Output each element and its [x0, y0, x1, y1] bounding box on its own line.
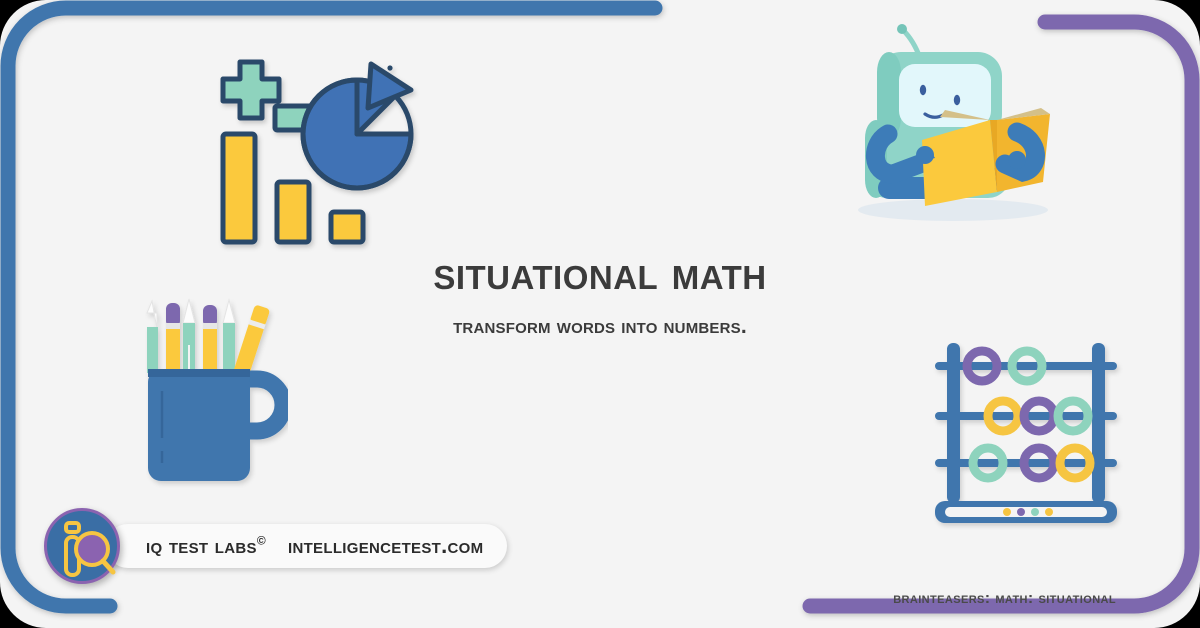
abacus-illustration: [925, 333, 1125, 543]
pie-slice-detached: [368, 64, 411, 108]
page-subtitle: Transform words into numbers.: [0, 315, 1200, 339]
robot-eye-right: [954, 95, 960, 105]
robot-ground-shadow: [858, 199, 1048, 221]
title-block: Situational math Transform words into nu…: [0, 248, 1200, 339]
page-title: Situational math: [0, 248, 1200, 297]
robot-hand-right: [1008, 151, 1026, 169]
brand-name-text: IQ Test Labs: [146, 533, 257, 558]
bar-2: [277, 182, 309, 242]
iq-magnifier-logo-icon: [47, 511, 123, 587]
bar-1: [223, 134, 255, 242]
bar-3: [331, 212, 363, 242]
mug-body: [148, 369, 250, 481]
math-chart-illustration: [205, 42, 425, 257]
abacus-frame: [935, 343, 1117, 523]
brand-name: IQ Test Labs©: [146, 533, 266, 559]
copyright-symbol: ©: [257, 534, 266, 548]
brand-logo[interactable]: [44, 508, 120, 584]
promo-card: Situational math Transform words into nu…: [0, 0, 1200, 628]
brand-site-link[interactable]: IntelligenceTest.com: [288, 533, 483, 559]
reading-robot-illustration: [845, 22, 1060, 227]
robot-eye-left: [920, 85, 926, 95]
breadcrumb: Brainteasers: math: situational: [893, 590, 1116, 608]
mug-handle: [245, 379, 283, 431]
brand-pill[interactable]: IQ Test Labs© IntelligenceTest.com: [106, 524, 507, 568]
plus-sign-icon: [223, 62, 279, 118]
brand-bar: IQ Test Labs© IntelligenceTest.com: [44, 508, 507, 584]
